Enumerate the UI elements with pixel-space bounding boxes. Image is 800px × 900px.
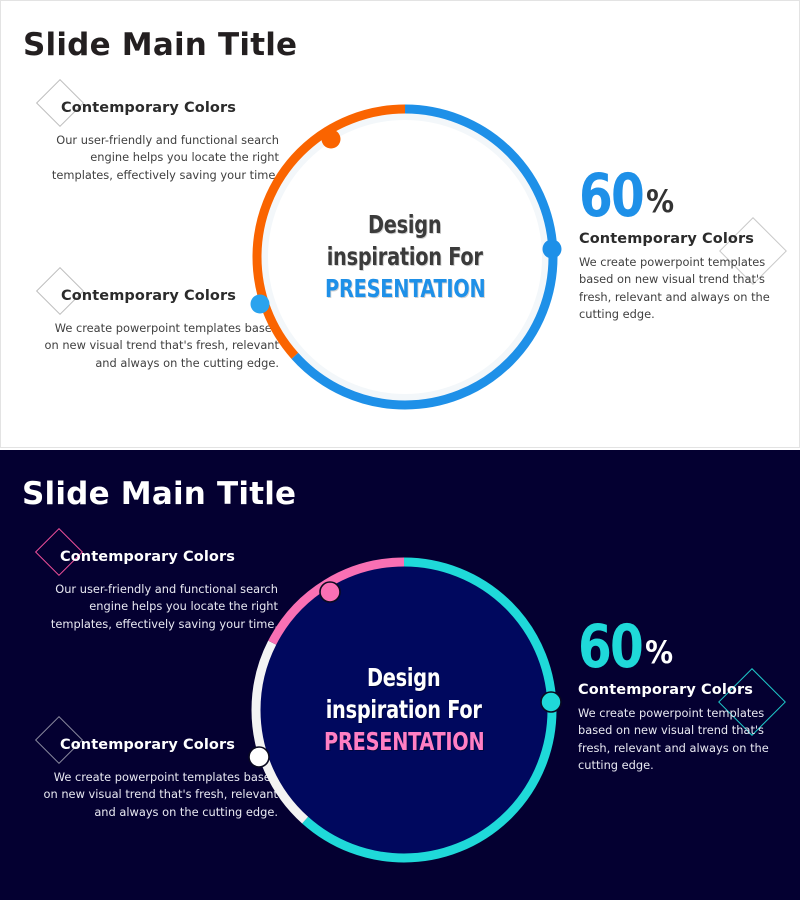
stat-percent-sign: %: [645, 638, 673, 669]
feature-1-head: Contemporary Colors: [38, 546, 278, 576]
feature-2-body: We create powerpoint templates based on …: [38, 769, 278, 821]
ring-dot-accent[interactable]: [322, 130, 341, 149]
stat-label: Contemporary Colors: [578, 682, 788, 698]
donut-svg: [245, 97, 565, 417]
donut-svg: [244, 550, 564, 870]
feature-2-head: Contemporary Colors: [39, 285, 279, 315]
feature-block-2[interactable]: Contemporary Colors We create powerpoint…: [39, 285, 279, 372]
slide-light: Slide Main Title Contemporary Colors Our…: [0, 0, 800, 448]
stat-label: Contemporary Colors: [579, 231, 789, 247]
feature-2-label: Contemporary Colors: [61, 288, 236, 304]
stat-percent-sign: %: [646, 187, 674, 218]
ring-dot-left[interactable]: [249, 747, 269, 767]
page-title: Slide Main Title: [23, 27, 297, 63]
slide-deck-page: Slide Main Title Contemporary Colors Our…: [0, 0, 800, 900]
stat-body: We create powerpoint templates based on …: [579, 254, 789, 323]
feature-block-1[interactable]: Contemporary Colors Our user-friendly an…: [38, 546, 278, 633]
slide-dark: Slide Main Title Contemporary Colors Our…: [0, 450, 800, 900]
stat-number: 60: [579, 169, 643, 223]
ring-dot-left[interactable]: [251, 295, 270, 314]
stat-body: We create powerpoint templates based on …: [578, 705, 788, 774]
feature-block-2[interactable]: Contemporary Colors We create powerpoint…: [38, 734, 278, 821]
feature-2-body: We create powerpoint templates based on …: [39, 320, 279, 372]
ring-dot-right[interactable]: [541, 692, 561, 712]
stat-number-row: 60 %: [578, 620, 788, 674]
stat-block-light[interactable]: 60 % Contemporary Colors We create power…: [579, 169, 789, 323]
donut-chart-light: Design inspiration For PRESENTATION: [245, 97, 565, 417]
ring-dot-accent[interactable]: [320, 582, 340, 602]
feature-2-label: Contemporary Colors: [60, 737, 235, 753]
stat-number: 60: [578, 620, 642, 674]
stat-number-row: 60 %: [579, 169, 789, 223]
ring-dot-right[interactable]: [543, 240, 562, 259]
stat-block-dark[interactable]: 60 % Contemporary Colors We create power…: [578, 620, 788, 774]
feature-1-label: Contemporary Colors: [61, 100, 236, 116]
feature-1-body: Our user-friendly and functional search …: [39, 132, 279, 184]
feature-1-head: Contemporary Colors: [39, 97, 279, 127]
feature-1-body: Our user-friendly and functional search …: [38, 581, 278, 633]
feature-2-head: Contemporary Colors: [38, 734, 278, 764]
feature-1-label: Contemporary Colors: [60, 549, 235, 565]
feature-block-1[interactable]: Contemporary Colors Our user-friendly an…: [39, 97, 279, 184]
ring-track: [262, 114, 548, 400]
page-title: Slide Main Title: [22, 476, 296, 512]
donut-chart-dark: Design inspiration For PRESENTATION: [244, 550, 564, 870]
